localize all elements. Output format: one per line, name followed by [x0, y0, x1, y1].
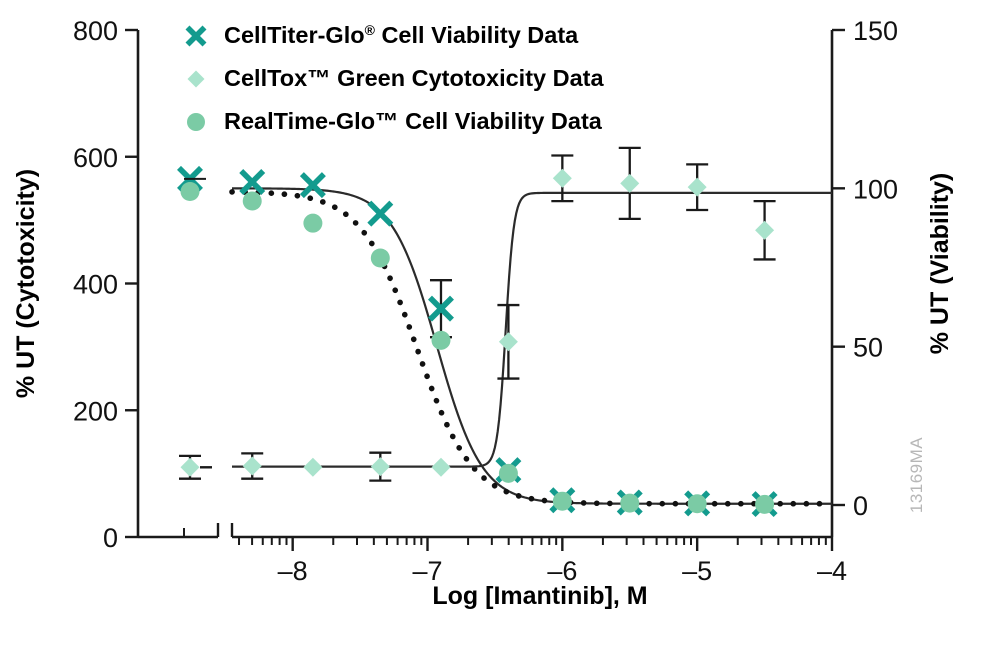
marker-x	[369, 203, 391, 225]
marker-x	[302, 174, 324, 196]
fit-curve-dotted	[232, 192, 832, 504]
marker-diamond	[303, 458, 322, 477]
legend-item[interactable]: RealTime-Glo™ Cell Viability Data	[187, 108, 603, 134]
legend-label: RealTime-Glo™ Cell Viability Data	[224, 108, 603, 134]
marker-x	[188, 28, 205, 45]
marker-diamond	[755, 221, 774, 240]
marker-circle	[303, 214, 322, 233]
left-y-ticklabel: 400	[73, 270, 118, 300]
marker-diamond	[188, 71, 205, 88]
left-y-ticklabel: 200	[73, 396, 118, 426]
marker-circle	[499, 464, 518, 483]
axis-labels: % UT (Cytotoxicity)% UT (Viability)Log […	[12, 169, 954, 610]
fit-curve-solid	[232, 193, 832, 467]
x-ticklabel: –8	[278, 556, 308, 586]
left-y-ticklabel: 600	[73, 143, 118, 173]
x-axis-title: Log [Imantinib], M	[432, 582, 647, 610]
marker-diamond	[553, 169, 572, 188]
left-y-ticklabel: 800	[73, 16, 118, 46]
marker-circle	[181, 182, 200, 201]
right-y-ticklabel: 50	[853, 333, 883, 363]
chart-legend: CellTiter-Glo® Cell Viability DataCellTo…	[187, 22, 604, 134]
marker-diamond	[499, 332, 518, 351]
watermark-label: 13169MA	[907, 437, 926, 513]
marker-circle	[243, 192, 262, 211]
marker-circle	[371, 249, 390, 268]
marker-diamond	[243, 457, 262, 476]
chart-figure: 0200400600800050100150–8–7–6–5–4 % UT (C…	[0, 0, 996, 652]
dose-response-chart: 0200400600800050100150–8–7–6–5–4 % UT (C…	[0, 0, 996, 652]
right-y-ticklabel: 100	[853, 174, 898, 204]
x-ticklabel: –5	[682, 556, 712, 586]
axes: 0200400600800050100150–8–7–6–5–4	[73, 16, 898, 586]
fit-curve-solid	[232, 188, 832, 503]
data-points	[179, 168, 776, 515]
legend-label: CellTiter-Glo® Cell Viability Data	[224, 22, 579, 48]
error-bars	[179, 148, 776, 481]
marker-circle	[187, 113, 205, 131]
left-y-ticklabel: 0	[103, 523, 118, 553]
marker-circle	[688, 494, 707, 513]
marker-circle	[620, 494, 639, 513]
legend-item[interactable]: CellTiter-Glo® Cell Viability Data	[188, 22, 580, 48]
right-y-ticklabel: 150	[853, 16, 898, 46]
marker-circle	[755, 495, 774, 514]
marker-x	[241, 171, 263, 193]
left-y-axis-title: % UT (Cytotoxicity)	[12, 169, 40, 398]
x-ticklabel: –4	[817, 556, 847, 586]
legend-item[interactable]: CellTox™ Green Cytotoxicity Data	[188, 65, 605, 91]
right-y-ticklabel: 0	[853, 491, 868, 521]
marker-diamond	[431, 458, 450, 477]
marker-circle	[553, 492, 572, 511]
marker-diamond	[181, 458, 200, 477]
marker-diamond	[371, 457, 390, 476]
marker-circle	[431, 331, 450, 350]
marker-diamond	[620, 174, 639, 193]
fit-curves	[232, 188, 832, 503]
legend-label: CellTox™ Green Cytotoxicity Data	[224, 65, 604, 91]
right-y-axis-title: % UT (Viability)	[926, 173, 954, 355]
